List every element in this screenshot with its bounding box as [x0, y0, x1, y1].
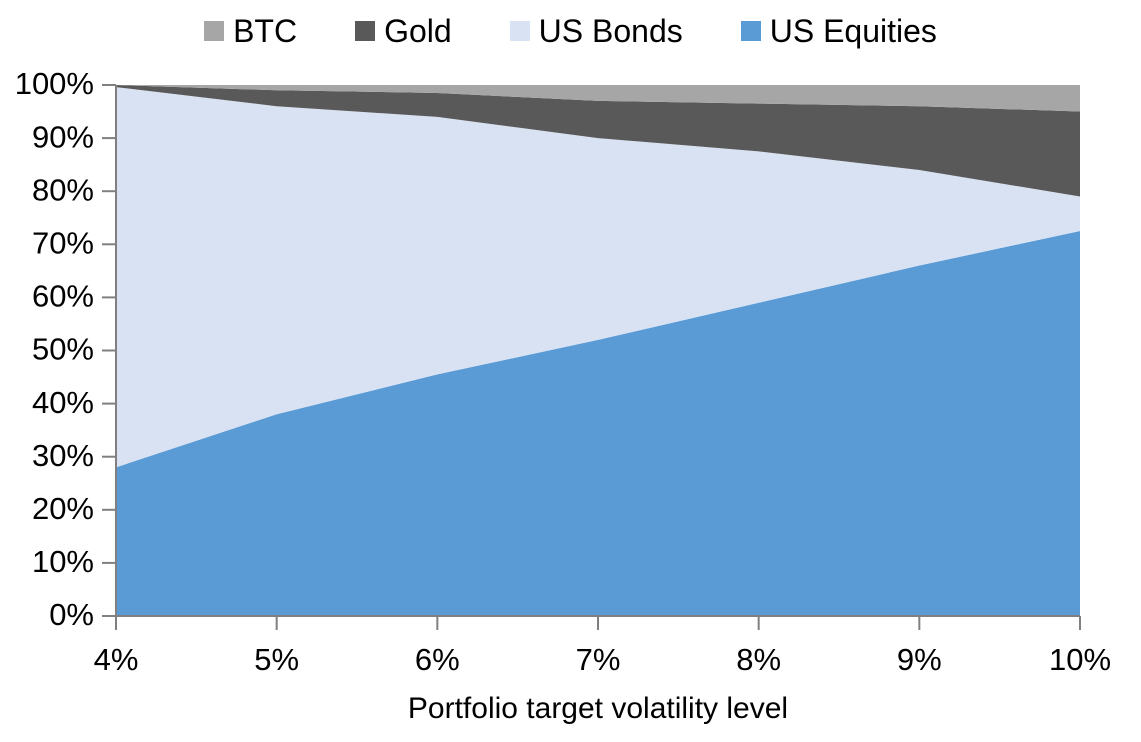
- x-axis-ticks: 4%5%6%7%8%9%10%: [94, 616, 1111, 677]
- y-tick-label: 30%: [32, 438, 94, 473]
- y-tick-label: 80%: [32, 172, 94, 207]
- y-tick-label: 60%: [32, 279, 94, 314]
- x-tick-label: 6%: [415, 642, 460, 677]
- stacked-area-chart: 0%10%20%30%40%50%60%70%80%90%100% 4%5%6%…: [0, 0, 1141, 742]
- y-tick-label: 90%: [32, 119, 94, 154]
- x-tick-label: 9%: [897, 642, 942, 677]
- x-axis-title: Portfolio target volatility level: [408, 692, 788, 725]
- y-tick-label: 20%: [32, 491, 94, 526]
- x-tick-label: 4%: [94, 642, 139, 677]
- x-tick-label: 10%: [1049, 642, 1111, 677]
- x-tick-label: 8%: [736, 642, 781, 677]
- y-tick-label: 70%: [32, 225, 94, 260]
- x-axis-title-label: Portfolio target volatility level: [408, 692, 788, 725]
- y-axis-ticks: 0%10%20%30%40%50%60%70%80%90%100%: [15, 66, 116, 632]
- chart-series-areas: [116, 85, 1080, 616]
- chart-plot-svg: 0%10%20%30%40%50%60%70%80%90%100% 4%5%6%…: [0, 0, 1141, 742]
- x-tick-label: 5%: [254, 642, 299, 677]
- y-tick-label: 40%: [32, 385, 94, 420]
- x-tick-label: 7%: [576, 642, 621, 677]
- y-tick-label: 100%: [15, 66, 94, 101]
- y-tick-label: 50%: [32, 332, 94, 367]
- y-tick-label: 0%: [49, 597, 94, 632]
- y-tick-label: 10%: [32, 544, 94, 579]
